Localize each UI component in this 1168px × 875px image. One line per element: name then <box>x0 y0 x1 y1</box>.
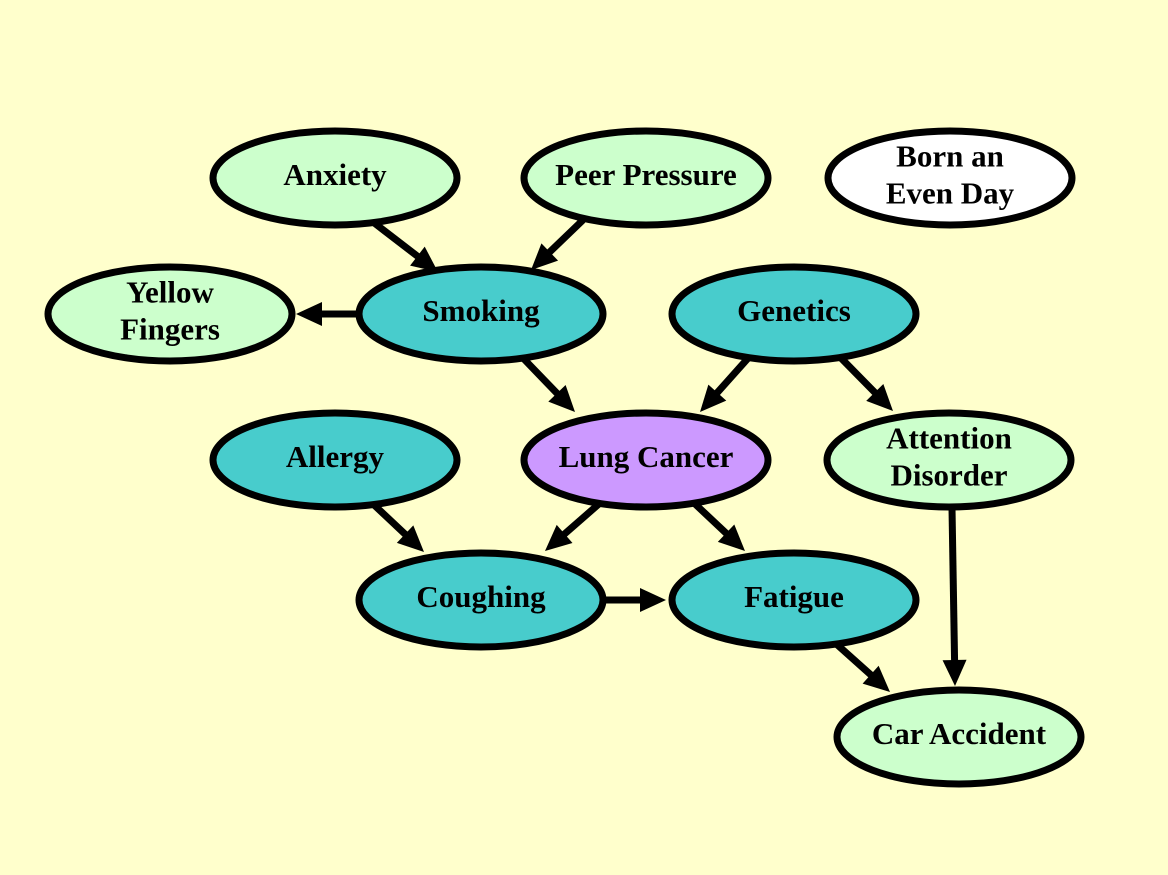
arrowhead-icon <box>640 588 666 612</box>
node-label: Coughing <box>416 579 546 614</box>
node-label: Fatigue <box>744 579 844 614</box>
edge-attention_disorder-to-car_accident <box>943 508 967 686</box>
node-label: Even Day <box>886 176 1015 211</box>
edge-line <box>547 220 583 255</box>
edge-line <box>694 503 729 536</box>
edge-fatigue-to-car_accident <box>833 641 890 692</box>
node-label: Anxiety <box>283 157 387 192</box>
edge-line <box>522 357 560 396</box>
causal-diagram: AnxietyPeer PressureBorn anEven DayYello… <box>0 0 1168 875</box>
node-peer_pressure[interactable]: Peer Pressure <box>524 131 768 225</box>
node-label: Smoking <box>422 293 540 328</box>
node-anxiety[interactable]: Anxiety <box>213 131 457 225</box>
node-label: Car Accident <box>872 716 1047 751</box>
node-genetics[interactable]: Genetics <box>672 267 916 361</box>
node-label: Attention <box>886 421 1012 456</box>
node-yellow_fingers[interactable]: YellowFingers <box>48 267 292 361</box>
arrowhead-icon <box>943 660 967 686</box>
edge-line <box>715 356 750 396</box>
edge-genetics-to-attention_disorder <box>839 356 893 411</box>
arrowhead-icon <box>296 302 322 326</box>
node-allergy[interactable]: Allergy <box>213 413 457 507</box>
node-fatigue[interactable]: Fatigue <box>672 553 916 647</box>
edge-peer_pressure-to-smoking <box>531 220 583 270</box>
edge-lung_cancer-to-fatigue <box>694 503 745 551</box>
edge-coughing-to-fatigue <box>605 588 666 612</box>
edge-line <box>372 503 408 537</box>
node-coughing[interactable]: Coughing <box>359 553 603 647</box>
node-label: Yellow <box>126 275 214 310</box>
node-label: Genetics <box>737 293 851 328</box>
node-attention_disorder[interactable]: AttentionDisorder <box>827 413 1071 507</box>
node-label: Lung Cancer <box>559 439 734 474</box>
node-smoking[interactable]: Smoking <box>359 267 603 361</box>
node-lung_cancer[interactable]: Lung Cancer <box>524 413 768 507</box>
edge-anxiety-to-smoking <box>373 222 438 272</box>
edge-smoking-to-lung_cancer <box>522 357 575 412</box>
node-label: Fingers <box>120 312 220 347</box>
edge-lung_cancer-to-coughing <box>545 503 600 551</box>
edge-smoking-to-yellow_fingers <box>296 302 358 326</box>
node-label: Disorder <box>890 458 1007 493</box>
edge-line <box>373 222 420 259</box>
edge-line <box>839 356 878 395</box>
edge-allergy-to-coughing <box>372 503 424 552</box>
edge-line <box>562 503 600 536</box>
graph-canvas: AnxietyPeer PressureBorn anEven DayYello… <box>0 0 1168 875</box>
node-born_an_even_day[interactable]: Born anEven Day <box>828 131 1072 225</box>
edge-genetics-to-lung_cancer <box>700 356 750 412</box>
node-label: Peer Pressure <box>555 157 737 192</box>
node-car_accident[interactable]: Car Accident <box>837 690 1081 784</box>
node-label: Allergy <box>286 439 385 474</box>
edge-line <box>952 508 955 664</box>
node-label: Born an <box>896 139 1004 174</box>
nodes-layer: AnxietyPeer PressureBorn anEven DayYello… <box>48 131 1081 784</box>
